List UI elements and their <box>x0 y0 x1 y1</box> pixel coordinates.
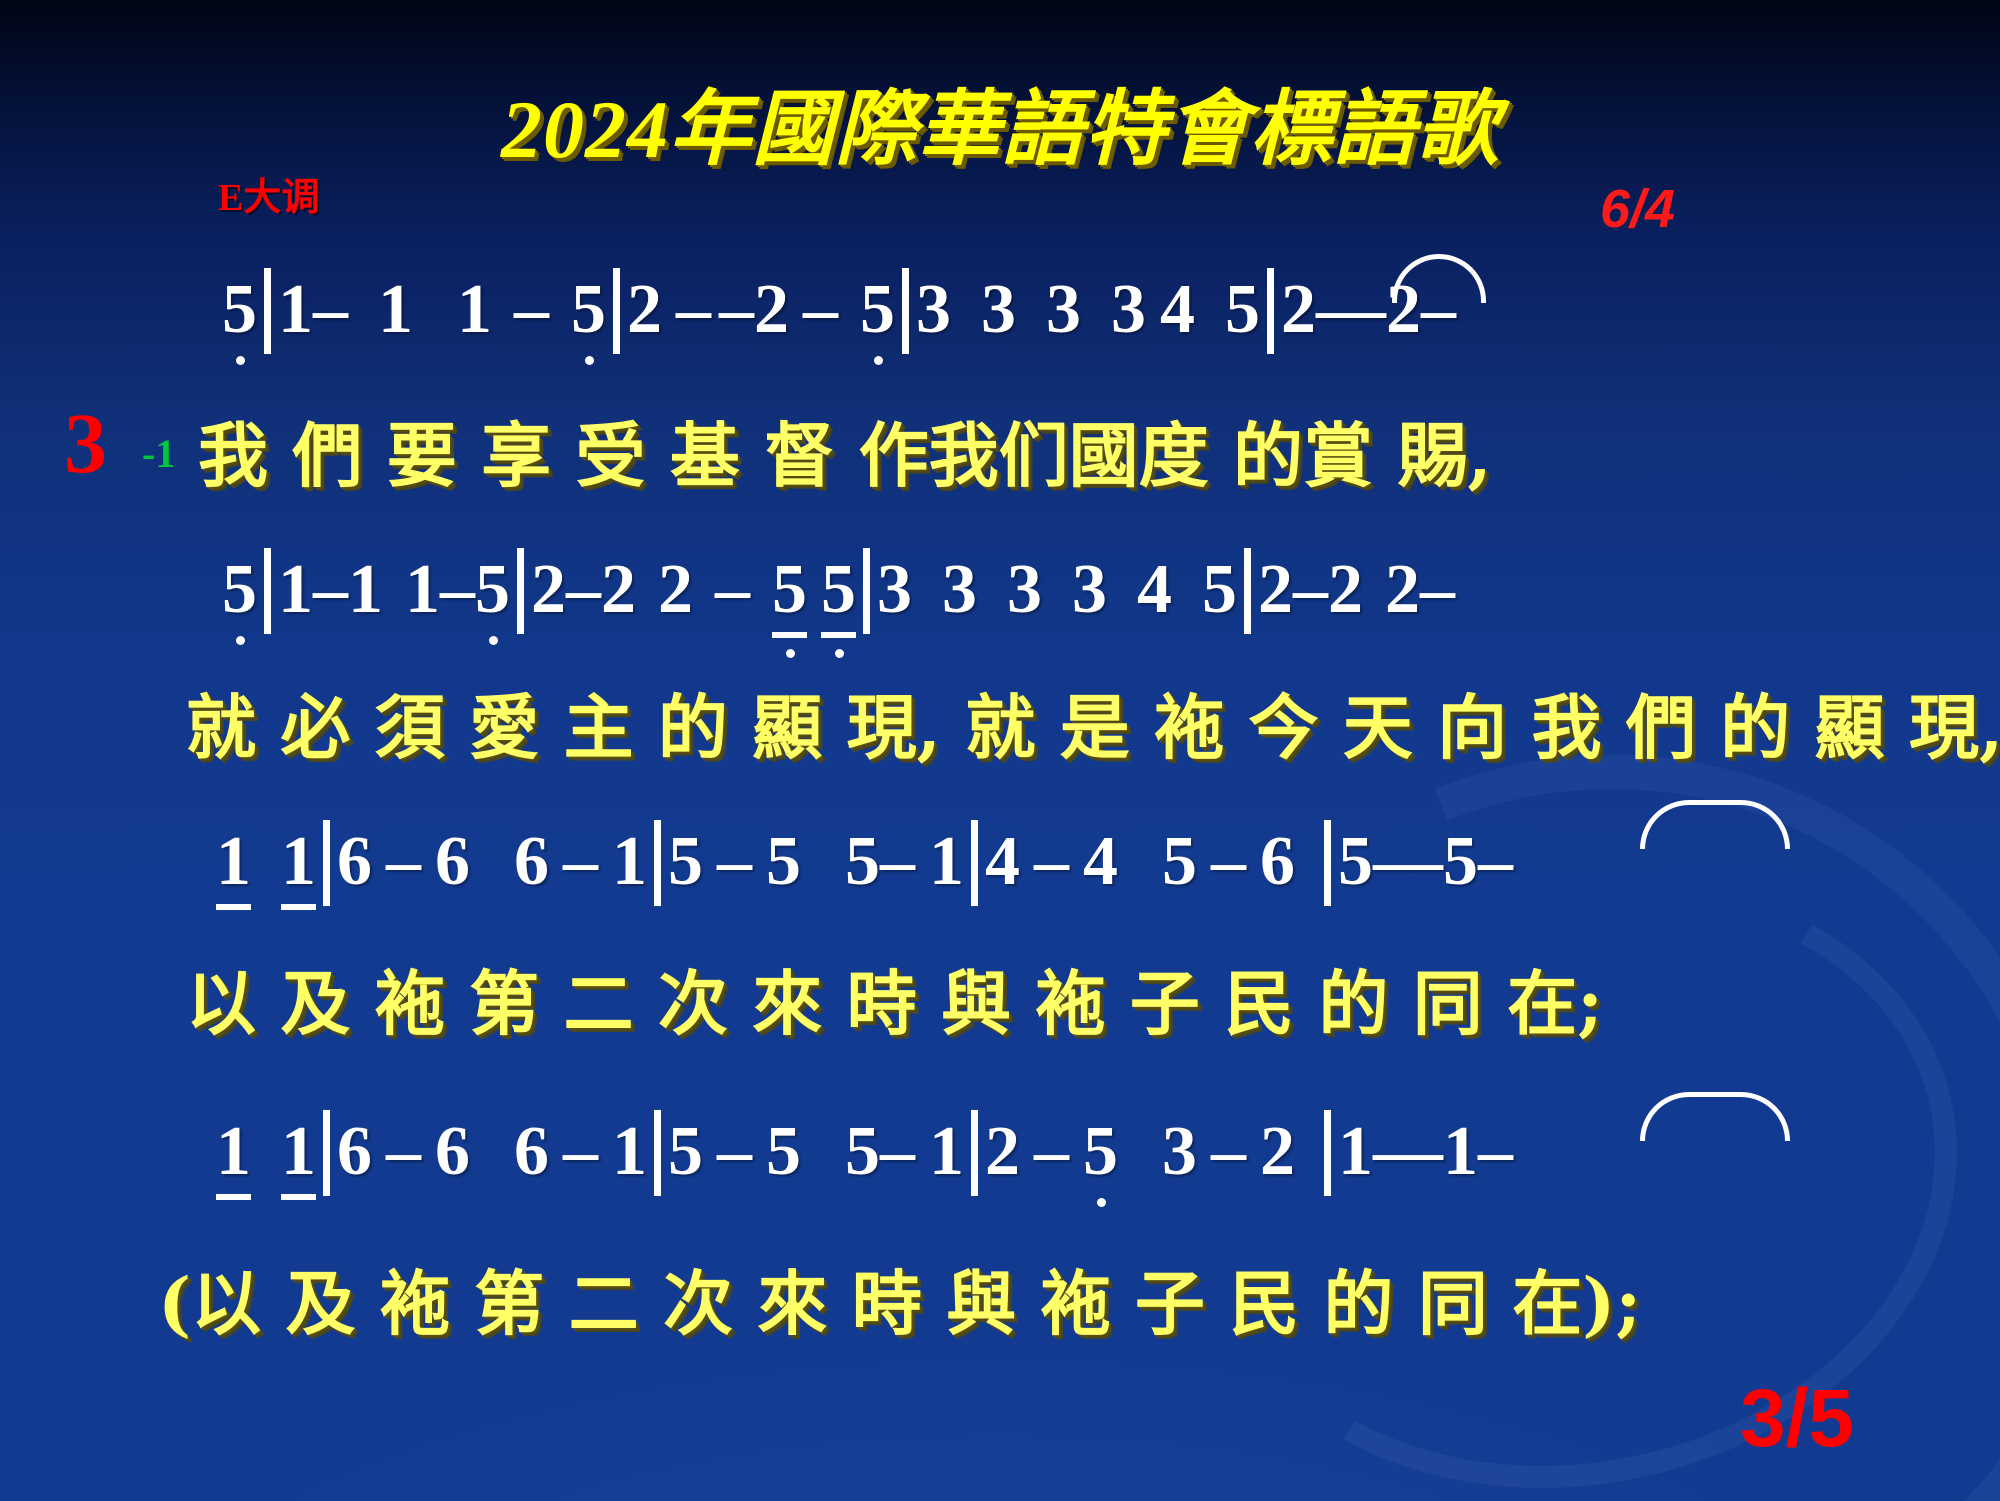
note: 3 <box>916 270 951 350</box>
note: 2 <box>754 270 789 350</box>
note-dash: – <box>1373 1112 1408 1192</box>
note: 2 <box>1281 270 1316 350</box>
note-dash: – <box>313 270 348 350</box>
note: 2 <box>1258 550 1293 630</box>
note: 5 <box>1338 822 1373 902</box>
barline <box>1244 548 1251 634</box>
note-dash: – <box>563 822 598 902</box>
barline <box>1324 1110 1331 1196</box>
note: 2 <box>1385 550 1420 630</box>
note: 5 <box>1202 550 1237 630</box>
note: 4 <box>1160 270 1195 350</box>
note: 2 <box>985 1112 1020 1192</box>
note: 6 <box>435 822 470 902</box>
note-dash: – <box>514 270 549 350</box>
note: 3 <box>1046 270 1081 350</box>
note: 3 <box>981 270 1016 350</box>
note: 3 <box>1162 1112 1197 1192</box>
note: 5 <box>845 1112 880 1192</box>
note-dash: – <box>717 822 752 902</box>
note: 5 <box>772 550 807 638</box>
note: 1 <box>216 822 251 910</box>
barline <box>517 548 524 634</box>
note-dash: – <box>1478 1112 1513 1192</box>
note: 3 <box>942 550 977 630</box>
note: 5 <box>845 822 880 902</box>
note: 2 <box>1260 1112 1295 1192</box>
note: 4 <box>985 822 1020 902</box>
note: 5 <box>475 550 510 630</box>
note: 1 <box>457 270 492 350</box>
note: 1 <box>612 1112 647 1192</box>
note: 2 <box>531 550 566 630</box>
note: 1 <box>405 550 440 630</box>
note: 5 <box>766 822 801 902</box>
tie-arc <box>1392 254 1486 303</box>
note-dash: – <box>1211 1112 1246 1192</box>
time-signature-label: 6/4 <box>1600 178 1675 240</box>
note: 5 <box>668 1112 703 1192</box>
note: 1 <box>278 550 313 630</box>
note: 6 <box>1260 822 1295 902</box>
tie-arc <box>1640 800 1790 849</box>
note-dash: – <box>1034 822 1069 902</box>
note-dash: – <box>1293 550 1328 630</box>
note: 5 <box>668 822 703 902</box>
lyric-line-1: 我 們 要 享 受 基 督 作我们國度 的賞 賜, <box>198 400 1492 501</box>
note-dash: – <box>717 1112 752 1192</box>
note: 6 <box>435 1112 470 1192</box>
notation-stave-1: 51–11–52––2–53333452––2– <box>222 268 1456 354</box>
note: 5 <box>1162 822 1197 902</box>
notation-stave-2: 51–11–52–22–553333452–22– <box>222 548 1455 638</box>
barline <box>264 268 271 354</box>
note: 4 <box>1137 550 1172 630</box>
barline <box>1267 268 1274 354</box>
note: 2 <box>627 270 662 350</box>
note: 1 <box>929 822 964 902</box>
note: 5 <box>1225 270 1260 350</box>
note: 1 <box>612 822 647 902</box>
barline <box>264 548 271 634</box>
note-dash: – <box>1211 822 1246 902</box>
note-dash: – <box>1316 270 1351 350</box>
note: 3 <box>877 550 912 630</box>
slide-canvas: 2024年國際華語特會標語歌 E大调 6/4 3 -1 51–11–52––2–… <box>0 0 2000 1501</box>
barline <box>654 820 661 906</box>
note: 6 <box>337 1112 372 1192</box>
key-signature-label: E大调 <box>218 166 319 221</box>
note: 1 <box>216 1112 251 1200</box>
note-dash: – <box>1373 822 1408 902</box>
lyric-line-4: (以 及 袘 第 二 次 來 時 與 袘 子 民 的 同 在); <box>158 1248 1641 1349</box>
note: 2 <box>601 550 636 630</box>
note-dash: – <box>1420 550 1455 630</box>
note-dash: – <box>1478 822 1513 902</box>
barline <box>863 548 870 634</box>
note: 5 <box>821 550 856 638</box>
note-dash: – <box>719 270 754 350</box>
barline <box>971 820 978 906</box>
note-dash: – <box>1034 1112 1069 1192</box>
note-dash: – <box>1408 1112 1443 1192</box>
tie-arc <box>1640 1092 1790 1141</box>
note-dash: – <box>676 270 711 350</box>
lyric-line-3: 以 及 袘 第 二 次 來 時 與 袘 子 民 的 同 在; <box>186 948 1603 1049</box>
note-dash: – <box>715 550 750 630</box>
lyric-line-2: 就 必 須 愛 主 的 顯 現, 就 是 袘 今 天 向 我 們 的 顯 現, <box>186 672 2000 773</box>
barline <box>1324 820 1331 906</box>
barline <box>654 1110 661 1196</box>
note: 1 <box>281 822 316 910</box>
page-number: 3/5 <box>1740 1372 1854 1466</box>
note: 4 <box>1083 822 1118 902</box>
note: 5 <box>222 270 257 350</box>
note-dash: – <box>386 1112 421 1192</box>
note-dash: – <box>1408 822 1443 902</box>
note-dash: – <box>566 550 601 630</box>
note: 5 <box>1083 1112 1118 1192</box>
barline <box>323 820 330 906</box>
note: 2 <box>658 550 693 630</box>
note: 1 <box>929 1112 964 1192</box>
note-dash: – <box>440 550 475 630</box>
barline <box>323 1110 330 1196</box>
notation-stave-4: 116–66–15–55–12–53–21––1– <box>216 1110 1513 1200</box>
note: 1 <box>378 270 413 350</box>
note-dash: – <box>313 550 348 630</box>
note: 5 <box>571 270 606 350</box>
verse-sub-number: -1 <box>142 434 175 474</box>
slide-title: 2024年國際華語特會標語歌 <box>0 62 2000 181</box>
note-dash: – <box>386 822 421 902</box>
note: 2 <box>1328 550 1363 630</box>
note-dash: – <box>1351 270 1386 350</box>
barline <box>902 268 909 354</box>
barline <box>971 1110 978 1196</box>
note: 6 <box>514 1112 549 1192</box>
note: 6 <box>337 822 372 902</box>
note: 5 <box>1443 822 1478 902</box>
note-dash: – <box>563 1112 598 1192</box>
barline <box>613 268 620 354</box>
note: 1 <box>281 1112 316 1200</box>
note-dash: – <box>803 270 838 350</box>
notation-stave-3: 116–66–15–55–14–45–65––5– <box>216 820 1513 910</box>
note-dash: – <box>880 1112 915 1192</box>
note: 5 <box>766 1112 801 1192</box>
note: 5 <box>860 270 895 350</box>
note: 1 <box>1338 1112 1373 1192</box>
note: 3 <box>1072 550 1107 630</box>
note: 5 <box>222 550 257 630</box>
verse-number: 3 <box>64 400 107 486</box>
note-dash: – <box>880 822 915 902</box>
note: 3 <box>1111 270 1146 350</box>
note: 1 <box>278 270 313 350</box>
note: 1 <box>1443 1112 1478 1192</box>
note: 6 <box>514 822 549 902</box>
note: 3 <box>1007 550 1042 630</box>
note: 1 <box>348 550 383 630</box>
